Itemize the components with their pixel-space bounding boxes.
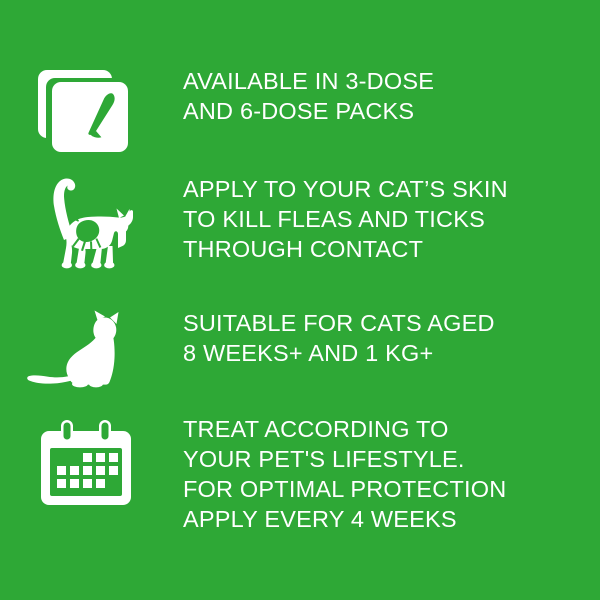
- feature-line: THROUGH CONTACT: [183, 234, 600, 264]
- feature-row: TREAT ACCORDING TO YOUR PET'S LIFESTYLE.…: [0, 414, 600, 534]
- feature-icon-cell: [0, 174, 175, 274]
- feature-icon-cell: [0, 414, 175, 510]
- feature-text-cell: TREAT ACCORDING TO YOUR PET'S LIFESTYLE.…: [175, 414, 600, 534]
- feature-line: TREAT ACCORDING TO: [183, 414, 600, 444]
- feature-list: AVAILABLE IN 3-DOSE AND 6-DOSE PACKS: [0, 0, 600, 600]
- walking-cat-with-flea-icon: [26, 168, 142, 274]
- sitting-cat-icon: [25, 310, 143, 392]
- dose-pack-icon: [36, 68, 136, 154]
- feature-icon-cell: [0, 66, 175, 154]
- feature-line: AND 6-DOSE PACKS: [183, 96, 600, 126]
- feature-text-cell: AVAILABLE IN 3-DOSE AND 6-DOSE PACKS: [175, 66, 600, 126]
- feature-text-cell: SUITABLE FOR CATS AGED 8 WEEKS+ AND 1 KG…: [175, 308, 600, 368]
- feature-line: 8 WEEKS+ AND 1 KG+: [183, 338, 600, 368]
- feature-line: TO KILL FLEAS AND TICKS: [183, 204, 600, 234]
- calendar-icon: [36, 420, 136, 510]
- feature-line: APPLY TO YOUR CAT’S SKIN: [183, 174, 600, 204]
- feature-row: AVAILABLE IN 3-DOSE AND 6-DOSE PACKS: [0, 66, 600, 154]
- feature-line: APPLY EVERY 4 WEEKS: [183, 504, 600, 534]
- feature-row: APPLY TO YOUR CAT’S SKIN TO KILL FLEAS A…: [0, 174, 600, 274]
- feature-icon-cell: [0, 308, 175, 392]
- feature-line: YOUR PET'S LIFESTYLE.: [183, 444, 600, 474]
- feature-text-cell: APPLY TO YOUR CAT’S SKIN TO KILL FLEAS A…: [175, 174, 600, 264]
- feature-line: AVAILABLE IN 3-DOSE: [183, 66, 600, 96]
- feature-line: SUITABLE FOR CATS AGED: [183, 308, 600, 338]
- feature-row: SUITABLE FOR CATS AGED 8 WEEKS+ AND 1 KG…: [0, 308, 600, 392]
- feature-panel: AVAILABLE IN 3-DOSE AND 6-DOSE PACKS: [0, 0, 600, 600]
- feature-line: FOR OPTIMAL PROTECTION: [183, 474, 600, 504]
